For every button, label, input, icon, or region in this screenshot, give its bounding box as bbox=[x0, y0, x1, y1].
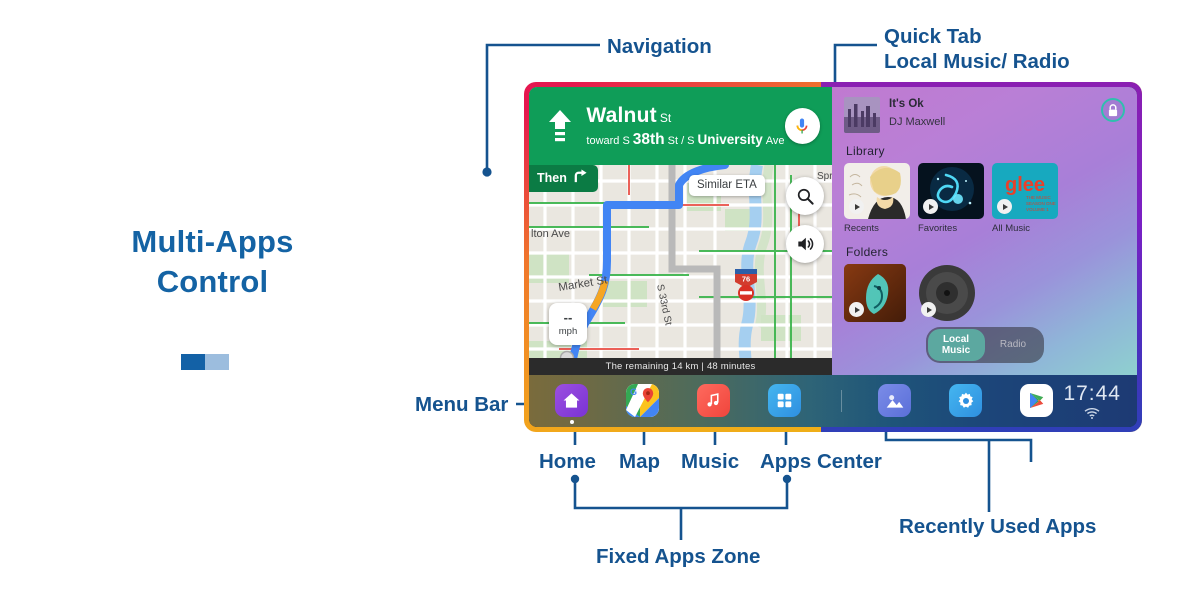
annotation-fixed-apps-zone: Fixed Apps Zone bbox=[596, 544, 760, 569]
library-thumb-all-music: glee THE MUSIC SEASON ONE VOLUME 1 bbox=[992, 163, 1058, 219]
library-label-favorites: Favorites bbox=[918, 223, 984, 234]
svg-text:G: G bbox=[630, 387, 637, 397]
street-suffix: St bbox=[660, 111, 671, 125]
toward-slash: / bbox=[681, 135, 684, 147]
folder-item-1[interactable] bbox=[844, 264, 906, 322]
music-pane[interactable]: It's Ok DJ Maxwell Library bbox=[832, 87, 1137, 375]
toward-number: 38th bbox=[633, 131, 665, 149]
status-cluster: 17:44 bbox=[1063, 383, 1127, 419]
dock-item-home[interactable] bbox=[555, 384, 588, 417]
folder-items bbox=[844, 264, 1125, 322]
library-item-recents[interactable]: Recents bbox=[844, 163, 910, 234]
svg-text:glee: glee bbox=[1005, 174, 1045, 196]
library-thumb-favorites bbox=[918, 163, 984, 219]
annotation-home: Home bbox=[539, 449, 596, 474]
local-music-radio-toggle[interactable]: Local Music Radio bbox=[926, 327, 1044, 363]
similar-eta-callout: Similar ETA bbox=[689, 175, 765, 196]
speed-value: -- bbox=[564, 311, 573, 324]
svg-text:VOLUME 1: VOLUME 1 bbox=[1026, 207, 1049, 212]
svg-text:THE MUSIC: THE MUSIC bbox=[1026, 195, 1052, 200]
device-screen: WalnutSt toward S 38th St / S University… bbox=[529, 87, 1137, 427]
toggle-local-music[interactable]: Local Music bbox=[928, 329, 985, 361]
wifi-icon bbox=[1063, 408, 1121, 419]
navigation-pane[interactable]: WalnutSt toward S 38th St / S University… bbox=[529, 87, 832, 375]
dock-separator bbox=[841, 390, 842, 412]
lock-icon[interactable] bbox=[1101, 98, 1125, 122]
annotation-music: Music bbox=[681, 449, 739, 474]
menu-bar: G bbox=[529, 375, 1137, 427]
library-item-favorites[interactable]: Favorites bbox=[918, 163, 984, 234]
dock-item-gallery[interactable] bbox=[878, 384, 911, 417]
dock-item-apps-center[interactable] bbox=[768, 384, 801, 417]
toward-prefix: toward bbox=[586, 135, 619, 147]
street-line: WalnutSt bbox=[586, 104, 784, 128]
connector-dot-navigation bbox=[482, 167, 491, 176]
library-items: Recents bbox=[844, 163, 1125, 234]
dock-item-settings[interactable] bbox=[949, 384, 982, 417]
connector-dot-fixed-right bbox=[783, 475, 791, 483]
clock: 17:44 bbox=[1063, 383, 1121, 404]
toward-line: toward S 38th St / S University Ave bbox=[586, 131, 784, 149]
annotation-menu-bar: Menu Bar bbox=[415, 392, 508, 417]
annotation-map: Map bbox=[619, 449, 660, 474]
play-icon[interactable] bbox=[921, 302, 936, 317]
now-playing-meta: It's Ok DJ Maxwell bbox=[889, 97, 945, 128]
play-icon[interactable] bbox=[923, 199, 938, 214]
toward-ave: Ave bbox=[766, 135, 785, 147]
toward-s2: S bbox=[687, 135, 694, 147]
dock-item-music[interactable] bbox=[697, 384, 730, 417]
play-icon[interactable] bbox=[849, 302, 864, 317]
fixed-apps-zone: G bbox=[555, 384, 801, 417]
now-playing-row[interactable]: It's Ok DJ Maxwell bbox=[844, 97, 1125, 133]
split-screen-panes: WalnutSt toward S 38th St / S University… bbox=[529, 87, 1137, 375]
track-artist: DJ Maxwell bbox=[889, 116, 945, 128]
library-thumb-recents bbox=[844, 163, 910, 219]
volume-icon[interactable] bbox=[786, 225, 824, 263]
play-icon[interactable] bbox=[997, 199, 1012, 214]
street-name: Walnut bbox=[586, 104, 656, 127]
toward-university: University bbox=[697, 132, 762, 147]
turn-right-icon bbox=[573, 169, 588, 187]
library-label-all-music: All Music bbox=[992, 223, 1058, 234]
map-label-lton-ave: lton Ave bbox=[531, 228, 570, 240]
library-item-all-music[interactable]: glee THE MUSIC SEASON ONE VOLUME 1 All bbox=[992, 163, 1058, 234]
speed-indicator: -- mph bbox=[549, 303, 587, 345]
album-art-thumbnail bbox=[844, 97, 880, 133]
annotation-recently-used-apps: Recently Used Apps bbox=[899, 514, 1096, 539]
connector-dot-fixed-left bbox=[571, 475, 579, 483]
annotation-apps-center: Apps Center bbox=[760, 449, 882, 474]
speed-unit: mph bbox=[559, 326, 577, 337]
active-indicator-dot bbox=[570, 420, 574, 424]
then-instruction-chip: Then bbox=[529, 165, 598, 192]
highway-shield-label: 76 bbox=[742, 275, 750, 284]
annotation-quick-tab: Quick Tab Local Music/ Radio bbox=[884, 24, 1070, 74]
map-canvas[interactable]: 76 Spring lton Ave Market St S 33rd St bbox=[529, 165, 832, 375]
map-label-spring: Spring bbox=[817, 171, 832, 182]
navigation-instruction: WalnutSt toward S 38th St / S University… bbox=[580, 104, 784, 149]
folders-heading: Folders bbox=[846, 245, 1125, 259]
library-heading: Library bbox=[846, 144, 1125, 158]
toggle-radio[interactable]: Radio bbox=[985, 334, 1042, 355]
microphone-icon[interactable] bbox=[785, 108, 820, 144]
straight-arrow-icon bbox=[539, 109, 580, 143]
navigation-header: WalnutSt toward S 38th St / S University… bbox=[529, 87, 832, 165]
screenshot-root: Multi-Apps Control bbox=[0, 0, 1200, 602]
annotation-navigation: Navigation bbox=[607, 34, 712, 59]
search-icon[interactable] bbox=[786, 177, 824, 215]
then-label: Then bbox=[537, 171, 567, 185]
recently-used-apps-zone bbox=[878, 384, 1053, 417]
dock-item-play-store[interactable] bbox=[1020, 384, 1053, 417]
track-title: It's Ok bbox=[889, 98, 945, 110]
dock-item-map[interactable]: G bbox=[626, 384, 659, 417]
toward-s1: S bbox=[622, 135, 629, 147]
play-icon[interactable] bbox=[849, 199, 864, 214]
folder-item-2-vinyl[interactable] bbox=[916, 264, 978, 322]
eta-status-bar: The remaining 14 km | 48 minutes bbox=[529, 358, 832, 375]
library-label-recents: Recents bbox=[844, 223, 910, 234]
car-head-unit-device: WalnutSt toward S 38th St / S University… bbox=[524, 82, 1142, 432]
svg-text:SEASON ONE: SEASON ONE bbox=[1026, 201, 1056, 206]
toward-st: St bbox=[668, 135, 678, 147]
